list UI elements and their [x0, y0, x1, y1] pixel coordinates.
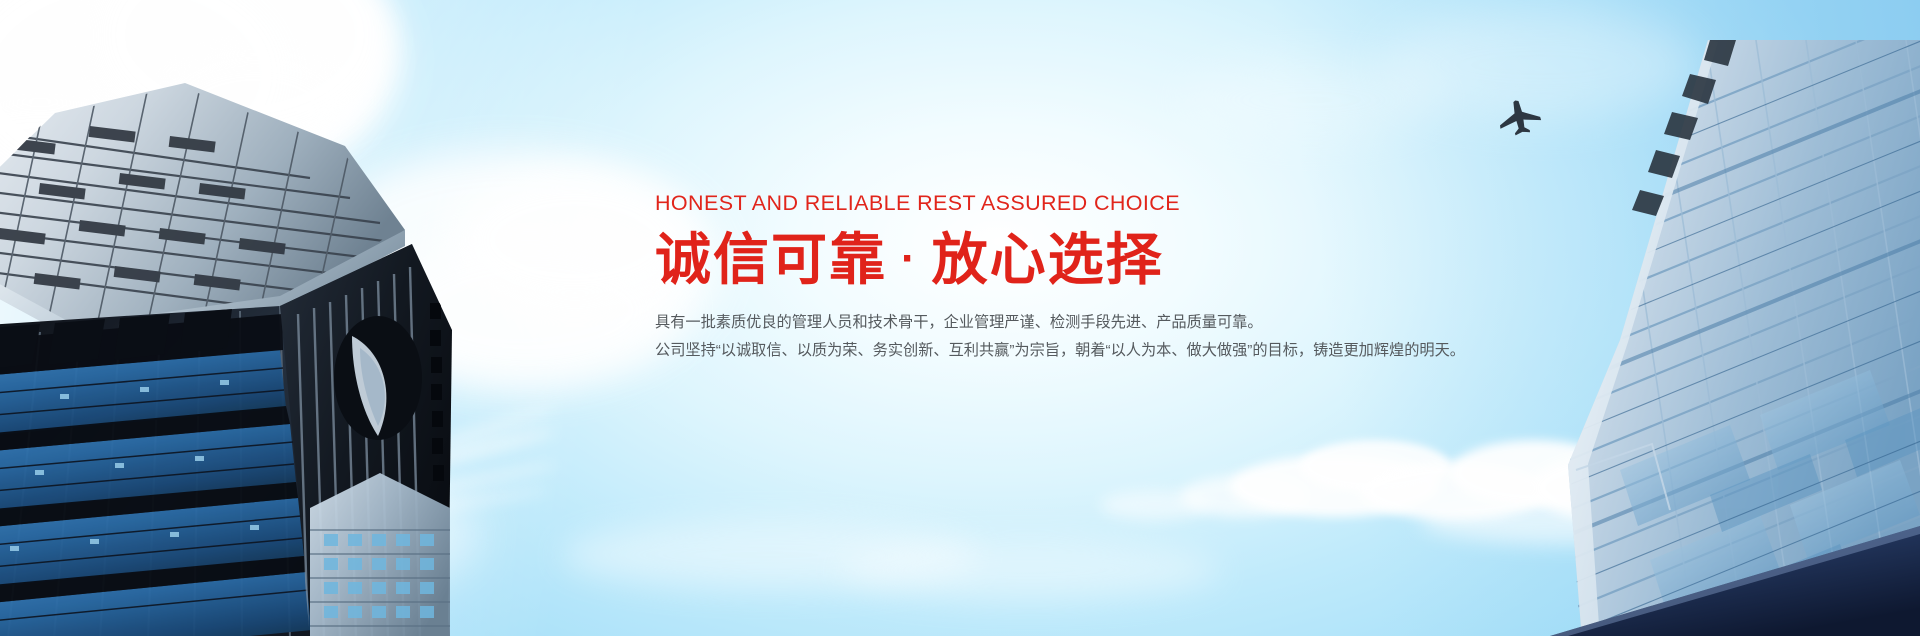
banner-body: 具有一批素质优良的管理人员和技术骨干，企业管理严谨、检测手段先进、产品质量可靠。…: [655, 309, 1415, 365]
headline-left-text: 诚信可靠: [655, 228, 887, 291]
banner-eyebrow: HONEST AND RELIABLE REST ASSURED CHOICE: [655, 190, 1415, 217]
hero-banner: HONEST AND RELIABLE REST ASSURED CHOICE …: [0, 0, 1920, 636]
banner-copy: HONEST AND RELIABLE REST ASSURED CHOICE …: [655, 190, 1415, 365]
foreground-building-edge: [1300, 506, 1920, 636]
headline-right-text: 放心选择: [932, 228, 1164, 291]
body-line-1: 具有一批素质优良的管理人员和技术骨干，企业管理严谨、检测手段先进、产品质量可靠。: [655, 309, 1415, 337]
body-line-2: 公司坚持“以诚取信、以质为荣、务实创新、互利共赢”为宗旨，朝着“以人为本、做大做…: [655, 337, 1415, 365]
headline-separator: ·: [887, 233, 932, 285]
left-building-image: [0, 78, 500, 636]
banner-headline: 诚信可靠·放心选择: [655, 227, 1415, 293]
